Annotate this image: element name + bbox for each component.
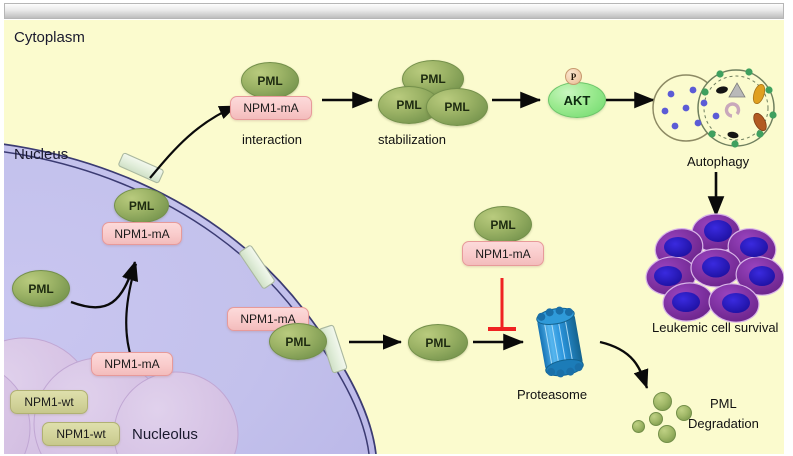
diagram-canvas: Cytoplasm Nucleus Nucleolus PML PML NPM1… — [4, 20, 784, 454]
degradation-particle-5 — [658, 425, 676, 443]
degradation-caption-line2: Degradation — [688, 416, 759, 431]
pathway-figure: Cytoplasm Nucleus Nucleolus PML PML NPM1… — [0, 0, 793, 456]
phosphorylation-icon: P — [565, 68, 582, 85]
akt-node: AKT — [548, 82, 606, 118]
proteasome-caption: Proteasome — [517, 387, 587, 402]
nucleus-pml-free: PML — [12, 270, 70, 307]
nucleolus-npm-wt-1: NPM1-wt — [10, 390, 88, 414]
inhibitor-pml: PML — [474, 206, 532, 243]
degradation-particle-3 — [649, 412, 663, 426]
arrow-proteasome-to-degradation — [600, 342, 647, 388]
inhibitor-npm: NPM1-mA — [462, 241, 544, 266]
nucleus-npm-free-left: NPM1-mA — [91, 352, 173, 376]
interaction-npm: NPM1-mA — [230, 96, 312, 120]
leukemia-caption: Leukemic cell survival — [652, 320, 778, 335]
proteasome-icon — [535, 304, 585, 380]
window-title-bar — [4, 3, 784, 19]
leukemic-cell-cluster — [644, 214, 784, 325]
autophagy-vesicle — [653, 68, 777, 147]
nucleus-label: Nucleus — [14, 146, 68, 163]
nucleus-npm-complex: NPM1-mA — [102, 222, 182, 245]
stabilization-caption: stabilization — [378, 132, 446, 147]
inhibition-connector — [488, 278, 516, 329]
nucleolus-label: Nucleolus — [132, 426, 198, 443]
degradation-particle-4 — [632, 420, 645, 433]
arrow-nuclear-export — [150, 106, 236, 178]
nucleus-pml-lower: PML — [269, 323, 327, 360]
nucleolus-npm-wt-2: NPM1-wt — [42, 422, 120, 446]
autophagy-caption: Autophagy — [687, 154, 749, 169]
cytoplasm-pml-substrate: PML — [408, 324, 468, 361]
degradation-caption-line1: PML — [710, 396, 737, 411]
interaction-pml: PML — [241, 62, 299, 99]
cytoplasm-label: Cytoplasm — [14, 29, 85, 46]
interaction-caption: interaction — [242, 132, 302, 147]
stabilization-pml-right: PML — [426, 88, 488, 126]
degradation-particle-1 — [653, 392, 672, 411]
nucleus-pml-complex: PML — [114, 188, 169, 223]
